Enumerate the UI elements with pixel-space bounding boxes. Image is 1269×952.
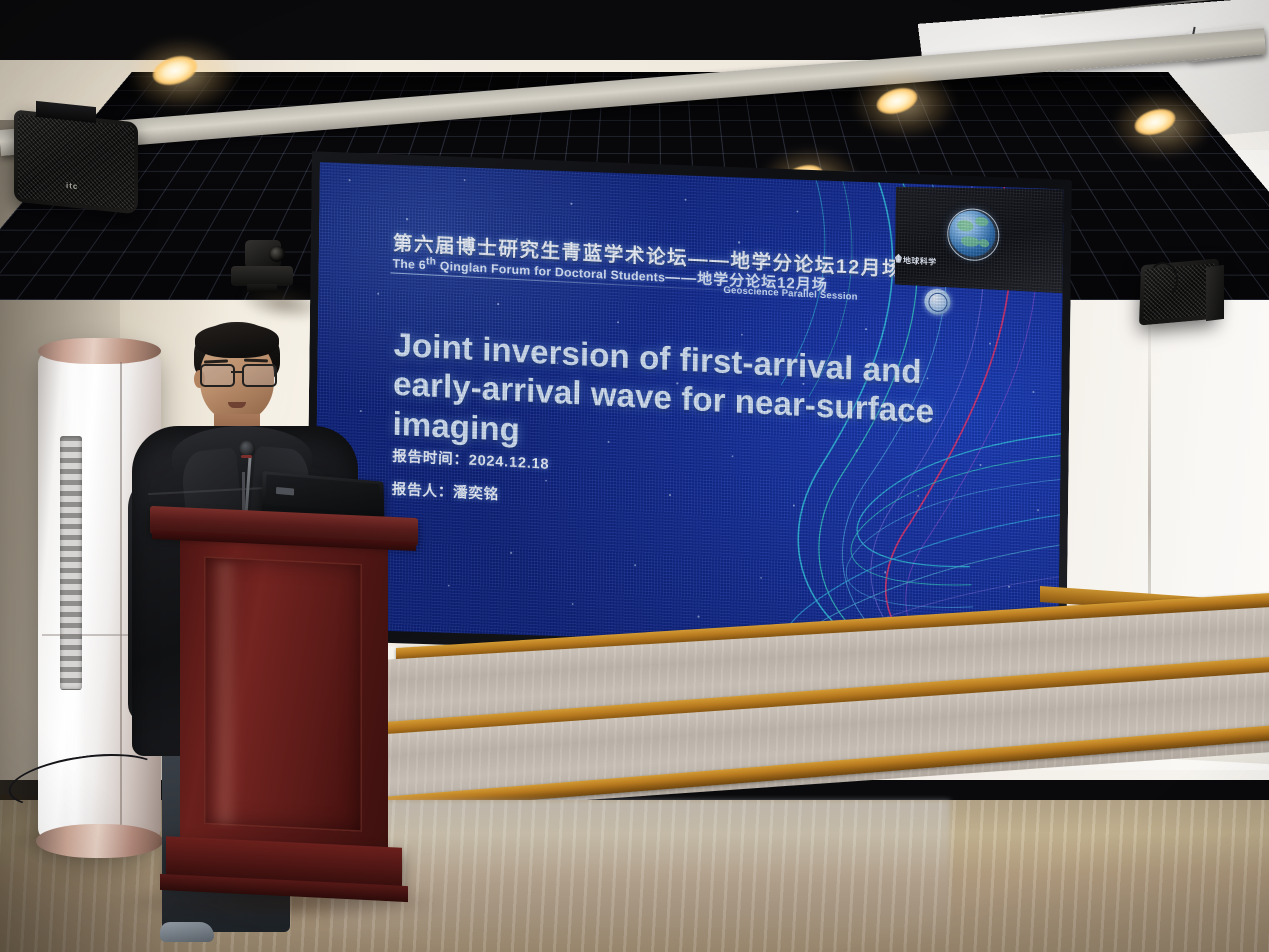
screen-dark-panel-overlay: 地球科学 [895, 181, 1064, 294]
presenter-glasses [198, 364, 277, 384]
speaker-brand-label: itc [66, 181, 78, 191]
globe-logo-ring [947, 207, 1000, 262]
camera-wall-mount [247, 284, 277, 292]
ptz-camera [231, 240, 293, 292]
en-heading-main: The 6 [392, 257, 426, 273]
camera-lens-icon [269, 246, 285, 262]
camera-base [231, 266, 293, 286]
led-presentation-screen[interactable]: 第六届博士研究生青蓝学术论坛——地学分论坛12月场 The 6th Qingla… [306, 140, 1072, 680]
podium-gloss-highlight [210, 561, 240, 824]
presenter-shoe [160, 922, 214, 942]
speaker-cable [1148, 262, 1178, 298]
glasses-bridge [231, 371, 242, 373]
panel-logo-text: 地球科学 [903, 255, 937, 268]
laptop-brand-logo-icon [276, 487, 294, 495]
speaker-right-side [1206, 265, 1224, 321]
ac-vent-grille [60, 436, 82, 690]
glasses-lens-left [200, 364, 235, 387]
microphone-ring [241, 455, 252, 458]
wall-speaker-left: itc [14, 109, 138, 214]
laptop-screen [266, 474, 381, 514]
camera-head [245, 240, 281, 268]
panel-logo-mark-icon [895, 254, 902, 263]
presenter-fringe [195, 324, 279, 358]
speaker-podium [150, 512, 418, 912]
en-heading-sup: th [426, 256, 436, 268]
glasses-lens-right [242, 364, 277, 387]
slide-canvas: 第六届博士研究生青蓝学术论坛——地学分论坛12月场 The 6th Qingla… [314, 151, 1064, 668]
lecture-hall-photo: itc [0, 0, 1269, 952]
university-seal-logo [924, 288, 950, 315]
floor-reflection [330, 800, 950, 952]
speaker-grille [18, 114, 134, 210]
